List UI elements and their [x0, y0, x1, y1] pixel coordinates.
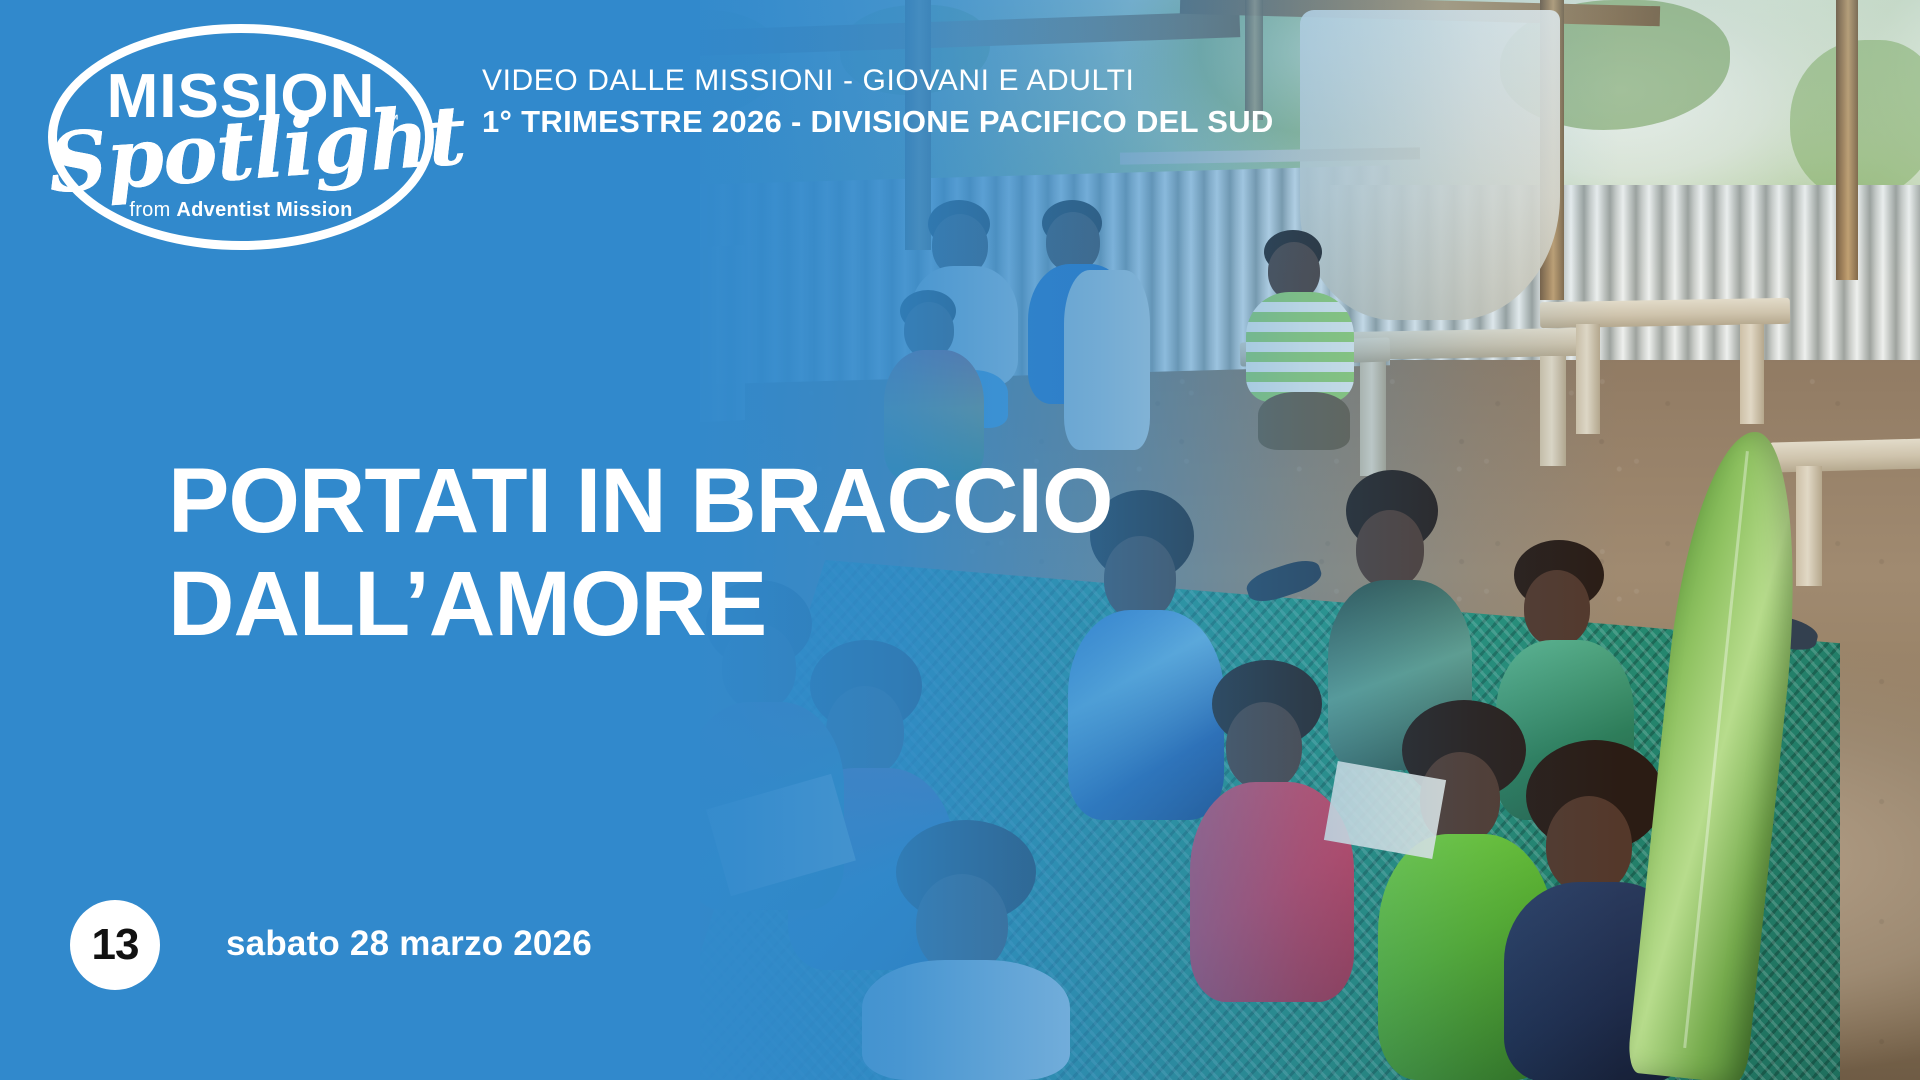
slide-root: MISSION ™ Spotlight from Adventist Missi…	[0, 0, 1920, 1080]
logo-tagline-light: from	[129, 199, 176, 221]
logo-tagline-bold: Adventist Mission	[176, 199, 352, 221]
page-title: PORTATI IN BRACCIO DALL’AMORE	[168, 450, 1113, 656]
header-block: VIDEO DALLE MISSIONI - GIOVANI E ADULTI …	[482, 62, 1274, 142]
episode-number: 13	[92, 923, 139, 967]
logo-tagline: from Adventist Mission	[48, 200, 434, 220]
page-title-line-2: DALL’AMORE	[168, 553, 1113, 656]
page-title-line-1: PORTATI IN BRACCIO	[168, 450, 1113, 553]
episode-date: sabato 28 marzo 2026	[226, 926, 592, 961]
mission-spotlight-logo: MISSION ™ Spotlight from Adventist Missi…	[48, 24, 434, 250]
episode-number-badge: 13	[70, 900, 160, 990]
header-quarter-division: 1° TRIMESTRE 2026 - DIVISIONE PACIFICO D…	[482, 102, 1274, 142]
header-subtitle: VIDEO DALLE MISSIONI - GIOVANI E ADULTI	[482, 62, 1274, 100]
logo-word-spotlight: Spotlight	[46, 97, 437, 206]
